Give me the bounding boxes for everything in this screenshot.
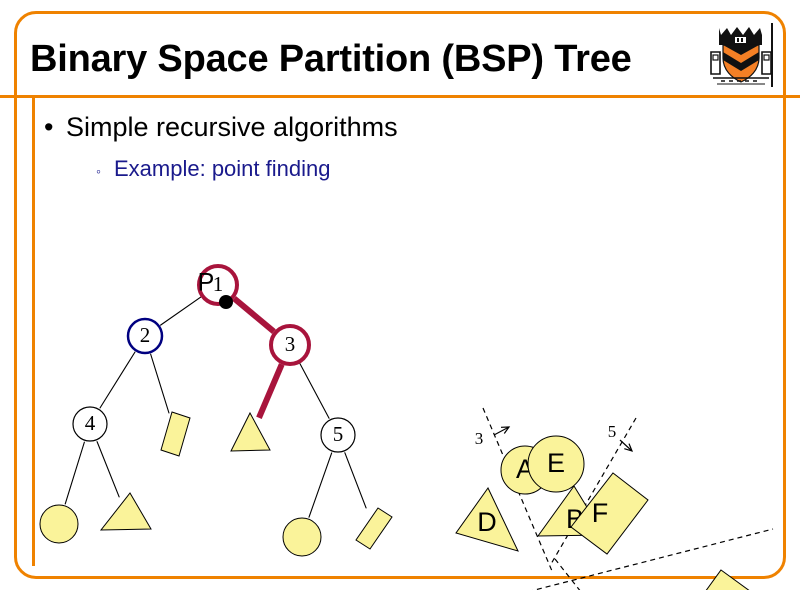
tree-node-label-2: 2 <box>140 323 151 347</box>
tree-leaf-triangle <box>231 413 270 451</box>
sub-bullet-marker-icon: ◦ <box>96 164 114 178</box>
tree-node-5[interactable]: 5 <box>321 418 355 452</box>
tree-node-label-5: 5 <box>333 422 344 446</box>
query-point-label: P <box>198 269 215 297</box>
tree-node-4[interactable]: 4 <box>73 407 107 441</box>
slide: Binary Space Partition (BSP) Tree •Simpl… <box>0 0 800 600</box>
partition-line-label-3: 3 <box>475 429 484 448</box>
spatial-object-label-E: E <box>547 448 565 478</box>
tree-edge-3-5 <box>300 364 329 419</box>
spatial-object-E: E <box>528 436 584 492</box>
spatial-object-F: F <box>571 473 648 554</box>
tree-leaf-rectangle <box>356 508 392 549</box>
spatial-object-D: D <box>456 488 518 551</box>
bullet-level-2: ◦Example: point finding <box>96 156 330 182</box>
page-title: Binary Space Partition (BSP) Tree <box>30 30 690 88</box>
bullet-level-1-label: Simple recursive algorithms <box>66 112 398 142</box>
title-separator-rule <box>0 95 800 98</box>
tree-edge-4-leaf-tri-4 <box>97 442 119 497</box>
bullet-marker-icon: • <box>44 114 66 141</box>
tree-edge-5-leaf-rect-5 <box>345 453 366 508</box>
tree-node-3[interactable]: 3 <box>271 326 309 364</box>
tree-leaf-circle <box>40 505 78 543</box>
tree-leaf-triangle <box>101 493 151 530</box>
tree-node-2[interactable]: 2 <box>128 319 162 353</box>
partition-line-2 <box>555 559 694 590</box>
tree-edge-5-leaf-circle-5 <box>309 453 332 517</box>
princeton-shield-logo <box>707 22 777 88</box>
tree-edge-2-4 <box>100 352 135 408</box>
tree-edge-2-leaf-rect-2 <box>151 354 169 413</box>
tree-edge-4-leaf-circle-4 <box>65 442 84 504</box>
bsp-figure: 12345 P 12345 ABCDEF <box>0 190 800 590</box>
partition-line-label-5: 5 <box>608 422 617 441</box>
tree-node-label-3: 3 <box>285 332 296 356</box>
spatial-object-C: C <box>684 570 798 590</box>
spatial-shape-rectangle-C <box>689 570 798 590</box>
bullet-level-1: •Simple recursive algorithms <box>44 112 398 143</box>
spatial-object-label-D: D <box>477 507 497 537</box>
tree-node-label-4: 4 <box>85 411 96 435</box>
tree-edge-group <box>65 297 366 517</box>
tree-edge-1-3 <box>234 298 274 331</box>
tree-edge-3-leaf-tri-3 <box>259 364 282 417</box>
tree-edge-1-2 <box>161 297 201 325</box>
tree-leaf-rectangle <box>161 412 190 456</box>
query-point-dot <box>219 295 233 309</box>
bullet-level-2-label: Example: point finding <box>114 156 330 181</box>
spatial-object-label-F: F <box>592 498 609 528</box>
spatial-shape-rectangle-F <box>571 473 648 554</box>
tree-leaf-circle <box>283 518 321 556</box>
